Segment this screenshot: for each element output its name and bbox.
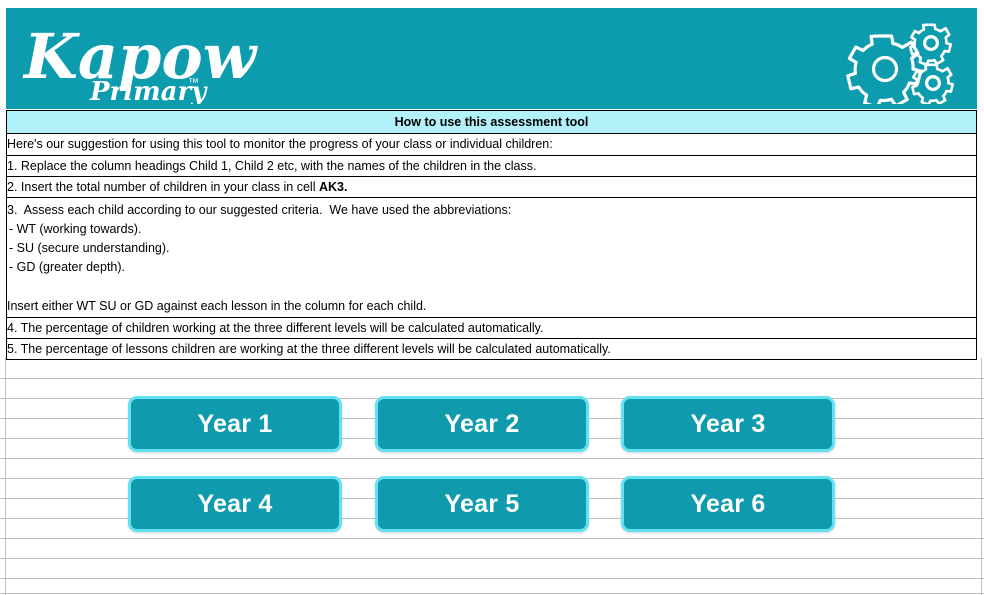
- instructions-step-5: 5. The percentage of lessons children ar…: [7, 339, 977, 360]
- table-row-step-1: 1. Replace the column headings Child 1, …: [7, 156, 977, 177]
- instructions-step-3: 3. Assess each child according to our su…: [7, 198, 977, 318]
- table-row-step-5: 5. The percentage of lessons children ar…: [7, 339, 977, 360]
- table-row-step-3: 3. Assess each child according to our su…: [7, 198, 977, 318]
- instructions-step-4: 4. The percentage of children working at…: [7, 318, 977, 339]
- table-row-step-4: 4. The percentage of children working at…: [7, 318, 977, 339]
- instructions-title: How to use this assessment tool: [7, 111, 977, 134]
- grid-column-divider-right: [981, 358, 982, 595]
- table-row-intro: Here's our suggestion for using this too…: [7, 134, 977, 156]
- instructions-abbrev-wt: - WT (working towards).: [7, 220, 976, 239]
- year-6-button[interactable]: Year 6: [621, 476, 835, 532]
- instructions-step-2: 2. Insert the total number of children i…: [7, 177, 977, 198]
- instructions-step-2-cell-ref: AK3.: [319, 180, 347, 194]
- year-5-button[interactable]: Year 5: [375, 476, 589, 532]
- brand-header: Kapow Primary ™: [6, 8, 977, 109]
- logo-trademark: ™: [188, 77, 199, 89]
- year-1-button[interactable]: Year 1: [128, 396, 342, 452]
- kapow-primary-logo: Kapow Primary ™: [18, 16, 318, 104]
- table-row-step-2: 2. Insert the total number of children i…: [7, 177, 977, 198]
- instructions-step-3-footer: Insert either WT SU or GD against each l…: [7, 297, 976, 316]
- instructions-step-1: 1. Replace the column headings Child 1, …: [7, 156, 977, 177]
- instructions-abbrev-gd: - GD (greater depth).: [7, 258, 976, 277]
- instructions-abbrev-su: - SU (secure understanding).: [7, 239, 976, 258]
- grid-column-divider-left: [5, 358, 6, 595]
- table-row-title: How to use this assessment tool: [7, 111, 977, 134]
- gears-icon: [845, 16, 963, 104]
- year-2-button[interactable]: Year 2: [375, 396, 589, 452]
- instructions-intro: Here's our suggestion for using this too…: [7, 134, 977, 156]
- instructions-step-3-heading: 3. Assess each child according to our su…: [7, 201, 976, 220]
- gear-upper-right: [910, 25, 950, 65]
- instructions-spacer-line: [7, 277, 976, 297]
- year-3-button[interactable]: Year 3: [621, 396, 835, 452]
- year-4-button[interactable]: Year 4: [128, 476, 342, 532]
- instructions-table: How to use this assessment tool Here's o…: [6, 110, 977, 360]
- year-button-grid: Year 1 Year 2 Year 3 Year 4 Year 5 Year …: [128, 396, 848, 541]
- instructions-step-2-text: 2. Insert the total number of children i…: [7, 180, 319, 194]
